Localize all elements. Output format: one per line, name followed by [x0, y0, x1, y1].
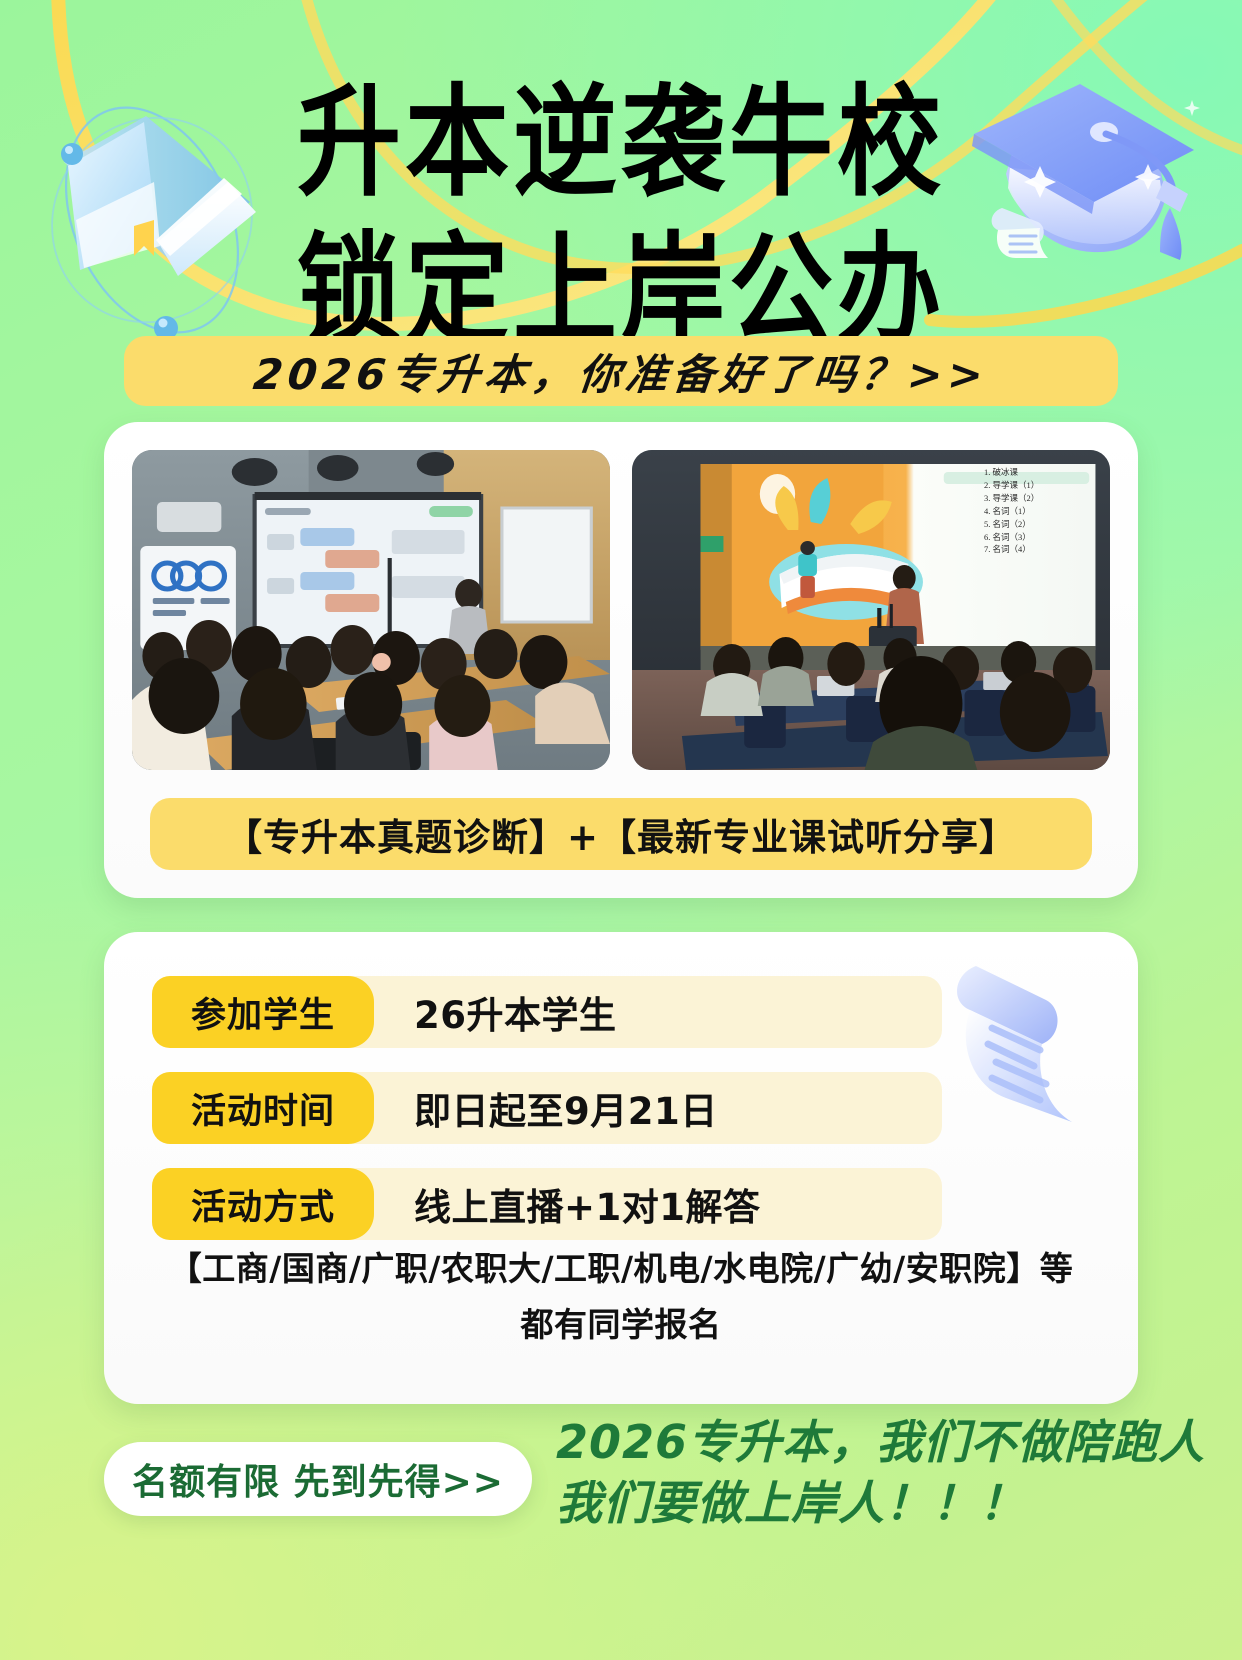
- info-row-label: 活动时间: [191, 1083, 335, 1134]
- info-row-label: 活动方式: [191, 1179, 335, 1230]
- info-row-participants: 参加学生 26升本学生: [152, 976, 942, 1048]
- course-item: 4. 名词（1）: [984, 505, 1104, 518]
- course-item: 5. 名词（2）: [984, 518, 1104, 531]
- info-row-label-chip: 活动时间: [152, 1072, 374, 1144]
- cta-label: 名额有限 先到先得>>: [132, 1453, 504, 1505]
- course-item: 3. 导学课（2）: [984, 492, 1104, 505]
- screen-course-list: 1. 破冰课 2. 导学课（1） 3. 导学课（2） 4. 名词（1） 5. 名…: [984, 466, 1104, 556]
- info-row-label-chip: 参加学生: [152, 976, 374, 1048]
- course-banner-text: 【专升本真题诊断】+【最新专业课试听分享】: [225, 807, 1017, 861]
- photo-row: 1. 破冰课 2. 导学课（1） 3. 导学课（2） 4. 名词（1） 5. 名…: [132, 450, 1110, 770]
- classroom-lecture-photo: [132, 450, 610, 770]
- page-title: 升本逆袭牛校 锁定上岸公办: [0, 74, 1242, 341]
- course-banner: 【专升本真题诊断】+【最新专业课试听分享】: [150, 798, 1092, 870]
- footer-slogan-line-1: 2026专升本，我们不做陪跑人: [556, 1412, 1176, 1473]
- photo-card: 1. 破冰课 2. 导学课（1） 3. 导学课（2） 4. 名词（1） 5. 名…: [104, 422, 1138, 898]
- course-item: 7. 名词（4）: [984, 543, 1104, 556]
- scroll-paper-icon: [914, 940, 1114, 1140]
- info-row-value: 线上直播+1对1解答: [374, 1177, 761, 1231]
- lecture-hall-photo: 1. 破冰课 2. 导学课（1） 3. 导学课（2） 4. 名词（1） 5. 名…: [632, 450, 1110, 770]
- course-item: 6. 名词（3）: [984, 531, 1104, 544]
- info-row-value: 26升本学生: [374, 985, 617, 1039]
- school-note-line-1: 【工商/国商/广职/农职大/工职/机电/水电院/广幼/安职院】等: [138, 1244, 1104, 1294]
- footer-slogan-line-2: 我们要做上岸人！！！: [556, 1473, 1176, 1534]
- course-item: 1. 破冰课: [984, 466, 1104, 479]
- info-rows: 参加学生 26升本学生 活动时间 即日起至9月21日 活动方式 线上直播+1对1…: [152, 976, 942, 1264]
- poster-root: 升本逆袭牛校 锁定上岸公办 2026专升本，你准备好了吗？>>: [0, 0, 1242, 1660]
- school-note: 【工商/国商/广职/农职大/工职/机电/水电院/广幼/安职院】等 都有同学报名: [138, 1244, 1104, 1349]
- info-row-label-chip: 活动方式: [152, 1168, 374, 1240]
- headline-line-1: 升本逆袭牛校: [0, 74, 1242, 213]
- subtitle-text: 2026专升本，你准备好了吗？>>: [251, 341, 992, 402]
- course-item: 2. 导学课（1）: [984, 479, 1104, 492]
- info-row-value: 即日起至9月21日: [374, 1081, 718, 1135]
- info-row-format: 活动方式 线上直播+1对1解答: [152, 1168, 942, 1240]
- info-row-time: 活动时间 即日起至9月21日: [152, 1072, 942, 1144]
- cta-button[interactable]: 名额有限 先到先得>>: [104, 1442, 532, 1516]
- footer-slogan: 2026专升本，我们不做陪跑人 我们要做上岸人！！！: [556, 1412, 1176, 1533]
- info-card: 参加学生 26升本学生 活动时间 即日起至9月21日 活动方式 线上直播+1对1…: [104, 932, 1138, 1404]
- school-note-line-2: 都有同学报名: [138, 1300, 1104, 1350]
- info-row-label: 参加学生: [191, 987, 335, 1038]
- subtitle-banner: 2026专升本，你准备好了吗？>>: [124, 336, 1118, 406]
